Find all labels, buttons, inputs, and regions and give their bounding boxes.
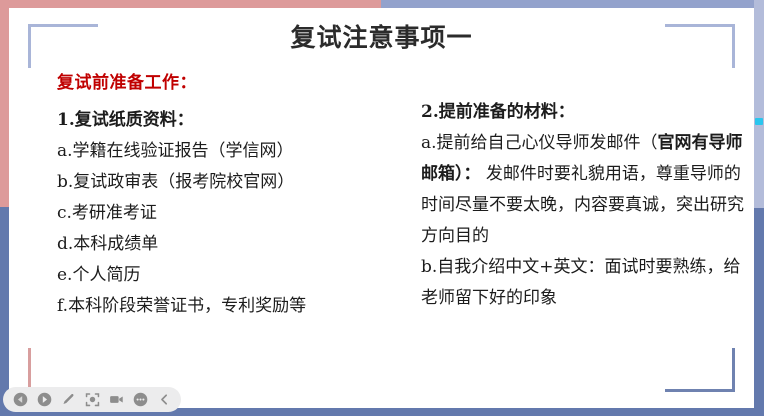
slide-body: 复试前准备工作： 1.复试纸质资料： a.学籍在线验证报告（学信网） b.复试政… [9, 68, 754, 368]
right-column: 2.提前准备的材料： a.提前给自己心仪导师发邮件（官网有导师邮箱）： 发邮件时… [421, 68, 751, 314]
frame-edge-top-blue [381, 0, 764, 8]
list-item: e.个人简历 [57, 260, 397, 291]
frame-edge-left-pink [0, 0, 9, 207]
chevron-left-icon[interactable] [153, 389, 175, 411]
slide-title: 复试注意事项一 [9, 18, 754, 54]
player-toolbar [3, 387, 181, 412]
video-icon[interactable] [105, 389, 127, 411]
list-item: b.复试政审表（报考院校官网） [57, 167, 397, 198]
left-column-subheading: 1.复试纸质资料： [57, 105, 397, 136]
frame-edge-left-blue [0, 207, 9, 416]
list-item: c.考研准考证 [57, 198, 397, 229]
previous-icon[interactable] [9, 389, 31, 411]
item-a-prefix: a.提前给自己心仪导师发邮件（ [421, 133, 658, 153]
play-icon[interactable] [33, 389, 55, 411]
left-column-heading: 复试前准备工作： [57, 68, 397, 93]
list-item: d.本科成绩单 [57, 229, 397, 260]
list-item: f.本科阶段荣誉证书，专利奖励等 [57, 291, 397, 322]
scroll-position-marker[interactable] [755, 118, 763, 125]
frame-edge-right-light [754, 0, 764, 208]
pencil-icon[interactable] [57, 389, 79, 411]
slide-page: 复试注意事项一 复试前准备工作： 1.复试纸质资料： a.学籍在线验证报告（学信… [9, 8, 754, 408]
list-item: a.提前给自己心仪导师发邮件（官网有导师邮箱）： 发邮件时要礼貌用语，尊重导师的… [421, 128, 751, 252]
list-item: a.学籍在线验证报告（学信网） [57, 136, 397, 167]
frame-edge-right-dark [754, 208, 764, 416]
left-column: 复试前准备工作： 1.复试纸质资料： a.学籍在线验证报告（学信网） b.复试政… [57, 68, 397, 322]
right-column-subheading: 2.提前准备的材料： [421, 97, 751, 128]
list-item: b.自我介绍中文+英文：面试时要熟练，给老师留下好的印象 [421, 252, 751, 314]
slide-viewer: 复试注意事项一 复试前准备工作： 1.复试纸质资料： a.学籍在线验证报告（学信… [0, 0, 764, 416]
more-icon[interactable] [129, 389, 151, 411]
screenshot-icon[interactable] [81, 389, 103, 411]
frame-edge-top-pink [0, 0, 381, 8]
